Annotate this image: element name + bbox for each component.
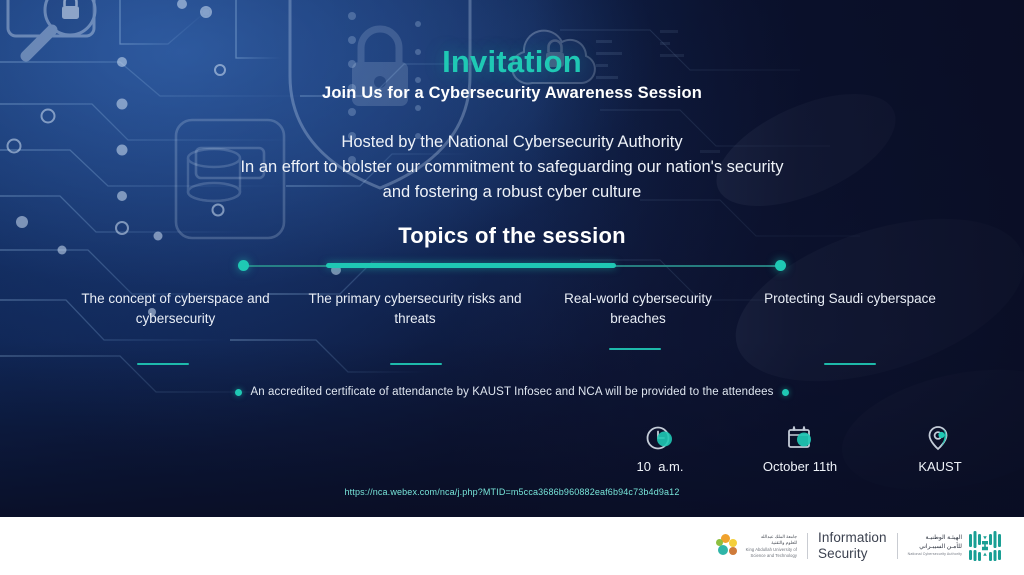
footer-logos: جامعة الملك عبدالله للعلوم والتقنية King… [715,530,1024,562]
timeline-dot-end [775,260,786,271]
bullet-left-icon [235,389,242,396]
topics-timeline [243,260,781,272]
logo-divider-2 [897,533,898,559]
intro-line-2: In an effort to bolster our commitment t… [0,155,1024,180]
webex-link[interactable]: https://nca.webex.com/nca/j.php?MTID=m5c… [0,487,1024,497]
logo-divider-1 [807,533,808,559]
event-details: 10 a.m. October 11th [600,424,1000,480]
information-security-logo: Information Security [818,530,887,561]
kaust-logo: جامعة الملك عبدالله للعلوم والتقنية King… [715,534,797,558]
intro-line-3: and fostering a robust cyber culture [0,180,1024,205]
nca-arabic-line-1: الهيئـة الوطنيـة [926,535,963,543]
page-title: Invitation [0,44,1024,80]
topics-list: The concept of cyberspace and cybersecur… [0,289,1024,379]
topics-heading: Topics of the session [0,223,1024,249]
detail-date-label: October 11th [763,459,837,474]
detail-time-label: 10 a.m. [637,459,684,474]
kaust-logo-text: جامعة الملك عبدالله للعلوم والتقنية King… [746,534,797,558]
infosec-line-2: Security [818,546,887,562]
timeline-dot-start [238,260,249,271]
infosec-line-1: Information [818,530,887,546]
clock-icon [644,424,676,452]
topic-item-1: The concept of cyberspace and cybersecur… [58,289,293,328]
detail-location: KAUST [880,424,1000,474]
nca-logo-text: الهيئـة الوطنيـة للأمـن السيبـراني Natio… [908,535,962,557]
invitation-slide: Invitation Join Us for a Cybersecurity A… [0,0,1024,575]
kaust-english-line-1: King Abdullah University of [746,547,797,552]
intro-line-1: Hosted by the National Cybersecurity Aut… [0,130,1024,155]
topic-item-2: The primary cybersecurity risks and thre… [300,289,530,328]
page-subtitle: Join Us for a Cybersecurity Awareness Se… [0,84,1024,103]
certificate-note-text: An accredited certificate of attendancte… [250,386,773,398]
intro-paragraph: Hosted by the National Cybersecurity Aut… [0,130,1024,205]
kaust-english-line-2: Science and Technology [746,553,797,558]
detail-time: 10 a.m. [600,424,720,474]
nca-arabic-line-2: للأمـن السيبـراني [919,544,962,552]
topic-underline-1 [137,363,189,365]
detail-date: October 11th [740,424,860,474]
footer-bar: جامعة الملك عبدالله للعلوم والتقنية King… [0,517,1024,575]
nca-emblem-icon [968,530,1002,562]
timeline-progress-bar [326,263,616,268]
artwork-panel: Invitation Join Us for a Cybersecurity A… [0,0,1024,517]
topic-item-4: Protecting Saudi cyberspace [760,289,940,309]
kaust-arabic-line-1: جامعة الملك عبدالله [746,534,797,540]
certificate-note: An accredited certificate of attendancte… [0,386,1024,398]
topic-underline-2 [390,363,442,365]
calendar-icon [784,424,816,452]
nca-english-label: National Cybersecurity Authority [908,552,962,557]
topic-underline-4 [824,363,876,365]
topic-underline-3 [609,348,661,350]
nca-logo: الهيئـة الوطنيـة للأمـن السيبـراني Natio… [908,530,1002,562]
location-pin-icon [924,424,956,452]
topic-item-3: Real-world cybersecurity breaches [538,289,738,328]
bullet-right-icon [782,389,789,396]
kaust-dots-icon [715,534,741,558]
detail-location-label: KAUST [918,459,961,474]
kaust-arabic-line-2: للعلوم والتقنية [746,540,797,546]
